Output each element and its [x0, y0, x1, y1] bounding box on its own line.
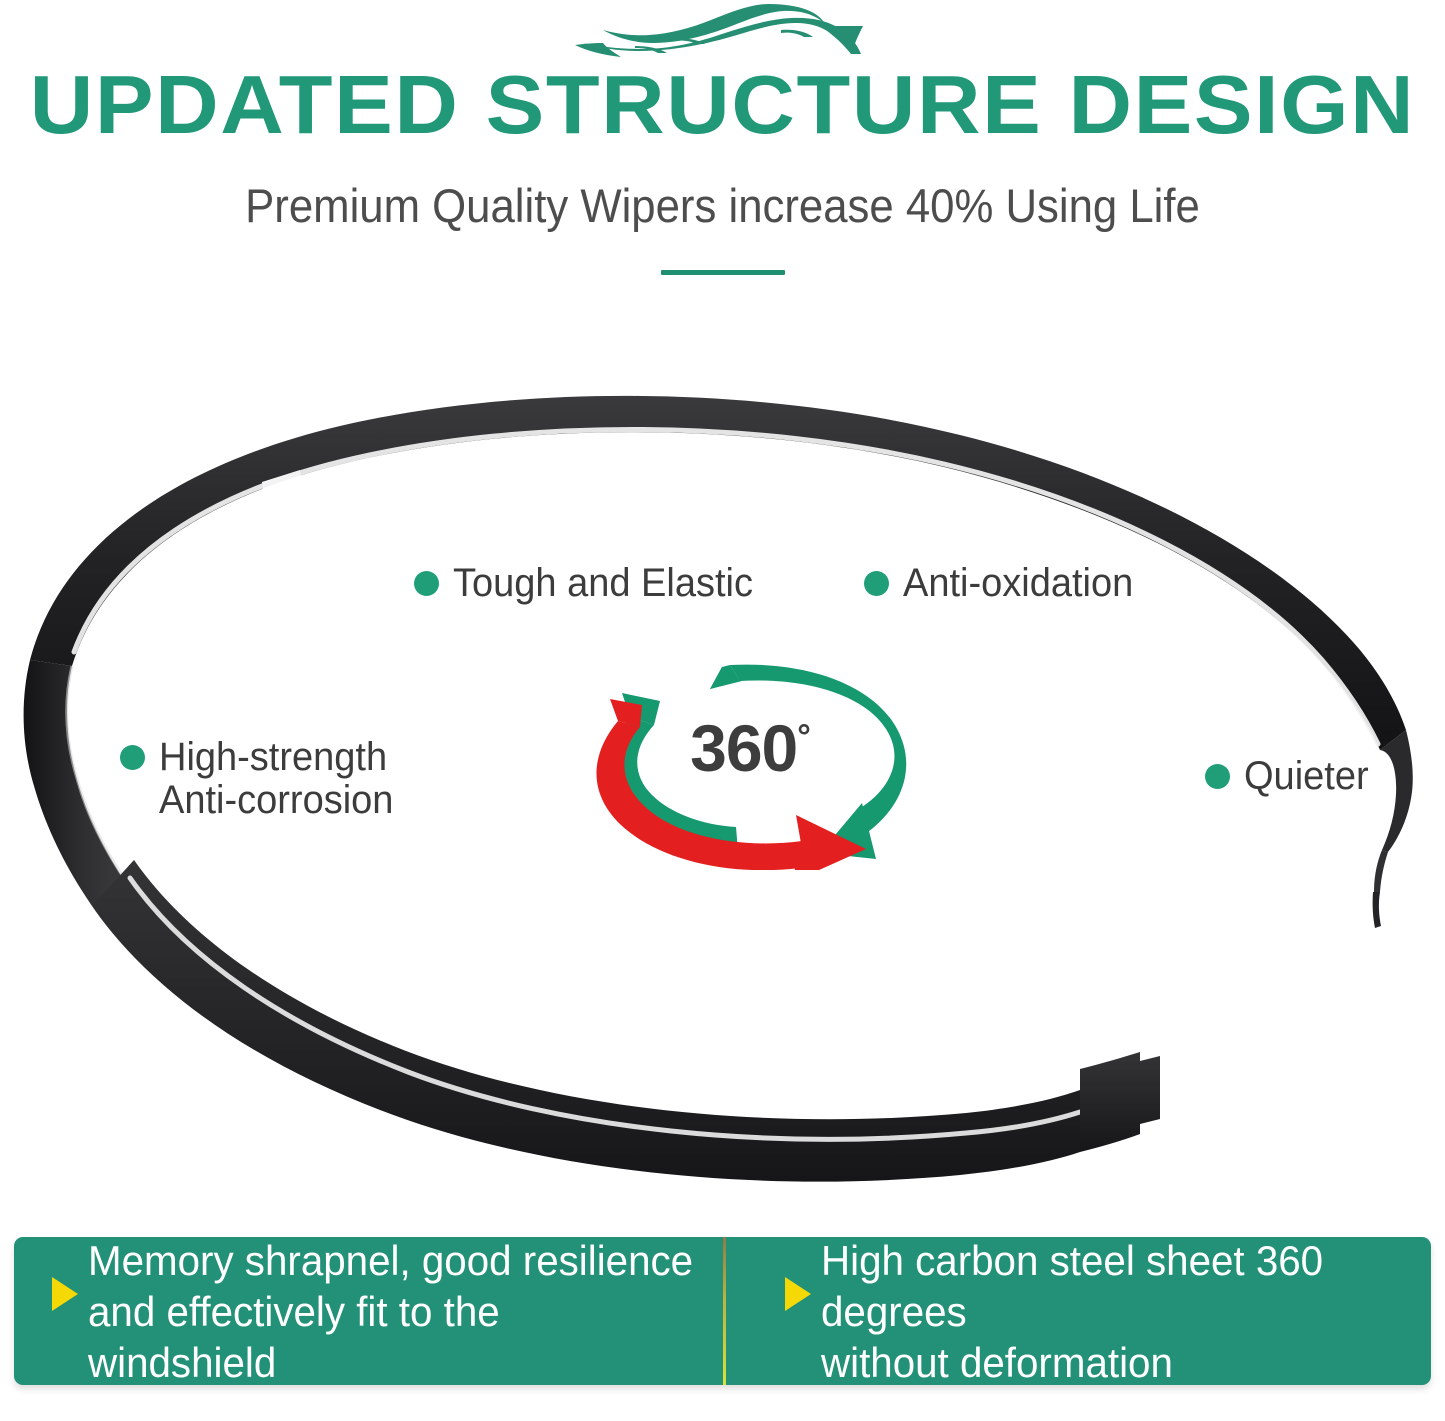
- bullet-dot-icon: [120, 745, 145, 770]
- banner-item-high-carbon-steel: High carbon steel sheet 360 degrees with…: [723, 1237, 1432, 1385]
- banner-text-line2: and effectively fit to the windshield: [88, 1286, 697, 1386]
- feature-label-text: Tough and Elastic: [453, 562, 753, 605]
- banner-item-memory-shrapnel: Memory shrapnel, good resilience and eff…: [14, 1237, 723, 1385]
- bullet-dot-icon: [1205, 764, 1230, 789]
- degree-symbol: °: [797, 718, 810, 756]
- feature-label-text-line1: High-strength: [159, 736, 393, 779]
- banner-text-line1: High carbon steel sheet 360 degrees: [821, 1237, 1407, 1337]
- rotation-360-badge: 360°: [570, 655, 930, 870]
- page-subtitle: Premium Quality Wipers increase 40% Usin…: [51, 178, 1395, 234]
- feature-label-text: Anti-oxidation: [903, 562, 1133, 605]
- badge-360-value: 360: [690, 711, 797, 785]
- feature-label-text-line2: Anti-corrosion: [159, 779, 393, 822]
- feature-label-high-strength-anti-corrosion: High-strength Anti-corrosion: [120, 736, 406, 822]
- feature-label-quieter: Quieter: [1205, 755, 1375, 798]
- triangle-bullet-icon: [785, 1277, 811, 1311]
- feature-label-tough-and-elastic: Tough and Elastic: [414, 562, 769, 605]
- feature-label-text: Quieter: [1244, 755, 1369, 798]
- bullet-dot-icon: [864, 571, 889, 596]
- feature-label-anti-oxidation: Anti-oxidation: [864, 562, 1145, 605]
- badge-360-label: 360°: [570, 715, 930, 781]
- bullet-dot-icon: [414, 571, 439, 596]
- banner-text-line1: Memory shrapnel, good resilience: [88, 1237, 697, 1286]
- page-title: UPDATED STRUCTURE DESIGN: [0, 62, 1445, 148]
- banner-text-line2: without deformation: [821, 1337, 1407, 1386]
- triangle-bullet-icon: [52, 1277, 78, 1311]
- feature-banner: Memory shrapnel, good resilience and eff…: [14, 1237, 1431, 1385]
- title-underline-divider: [661, 270, 785, 275]
- car-silhouette-icon: [573, 2, 873, 60]
